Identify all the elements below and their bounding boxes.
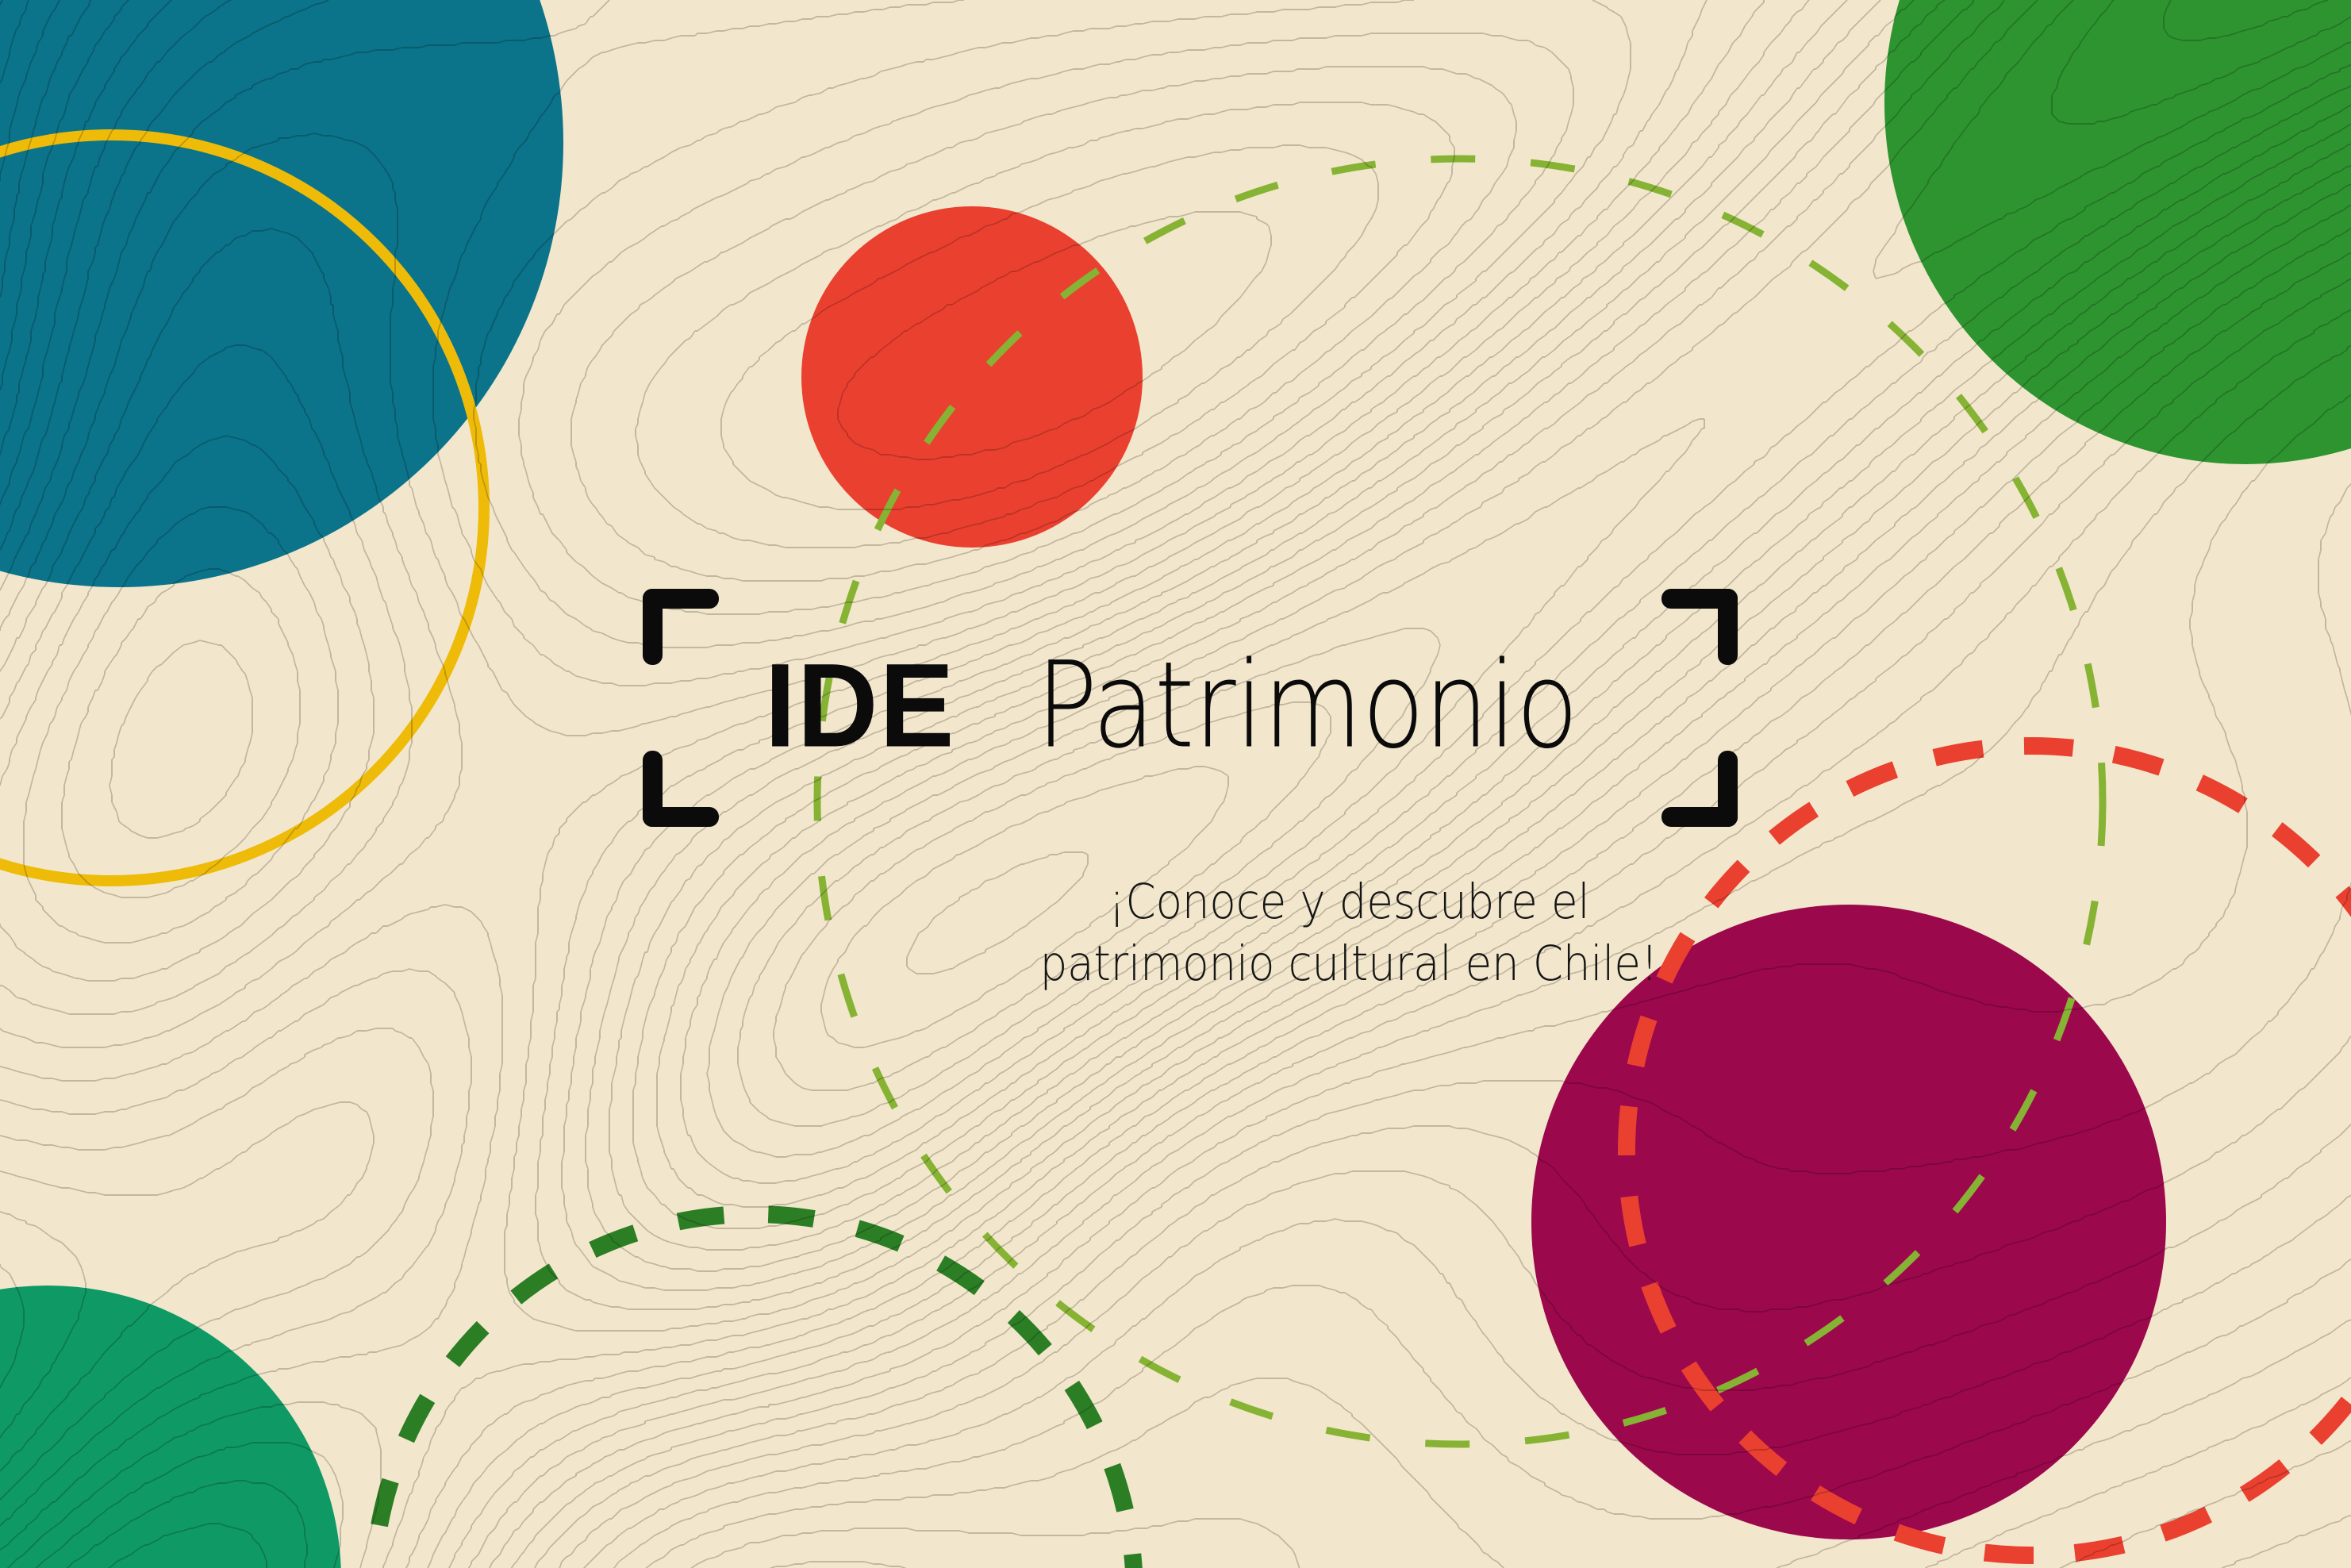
logo-word-patrimonio: Patrimonio (1036, 646, 1578, 765)
tagline: ¡Conoce y descubre el patrimonio cultura… (952, 871, 1746, 995)
logo-lockup: IDEPatrimonio (643, 589, 1738, 827)
green-circle (1884, 0, 2351, 464)
red-circle (801, 206, 1143, 548)
green-dashed-ring (373, 1214, 1135, 1568)
teal-circle (0, 1286, 341, 1568)
logo-word-ide: IDE (765, 645, 956, 764)
wordmark: IDEPatrimonio (643, 645, 1738, 765)
banner-canvas: IDEPatrimonio ¡Conoce y descubre el patr… (0, 0, 2351, 1568)
tagline-line-2: patrimonio cultural en Chile! (992, 933, 1706, 995)
tagline-line-1: ¡Conoce y descubre el (992, 871, 1706, 933)
